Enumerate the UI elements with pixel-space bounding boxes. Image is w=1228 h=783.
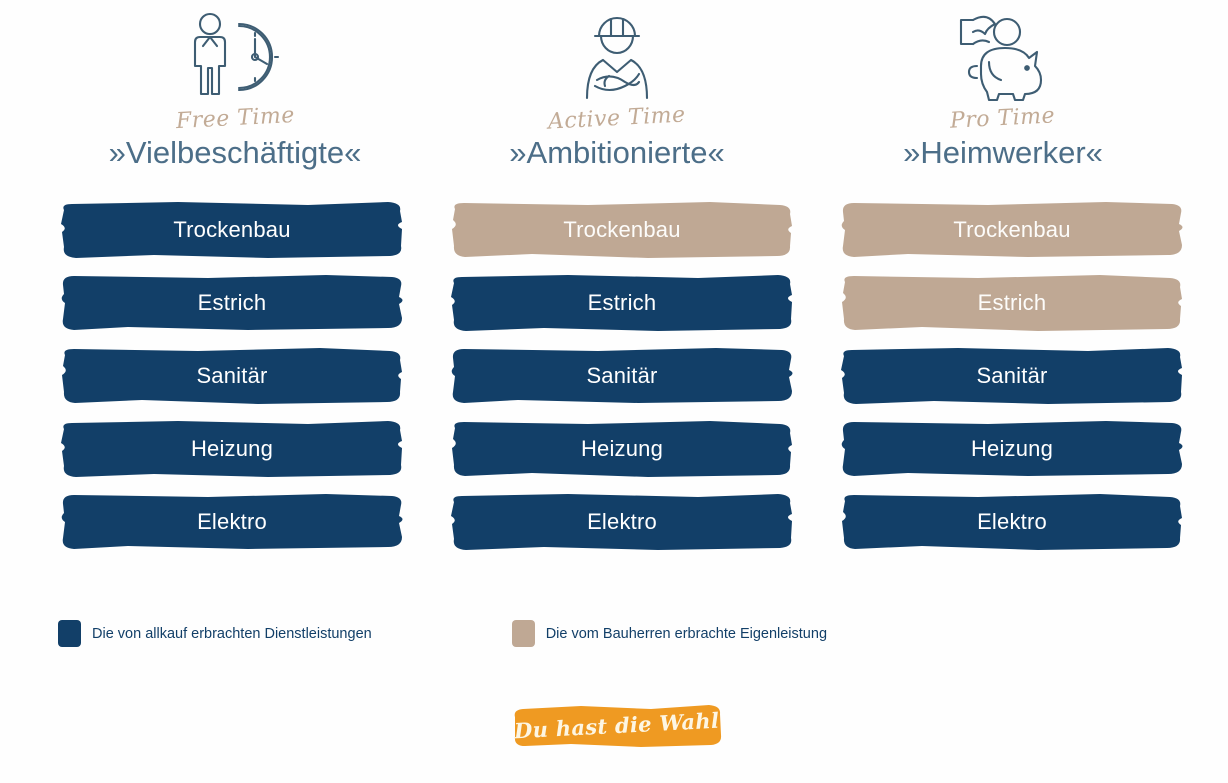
bar-column-heimwerker: Trockenbau Estrich Sanitär Heizung Elekt… (838, 200, 1216, 565)
bar-column-vielbeschaeftigte: Trockenbau Estrich Sanitär Heizung Elekt… (58, 200, 436, 565)
legend: Die von allkauf erbrachten Dienstleistun… (0, 620, 1228, 647)
service-bar[interactable]: Estrich (58, 273, 406, 333)
column-script-label: Free Time (175, 105, 295, 133)
piggy-bank-icon (951, 6, 1055, 106)
brush-stroke-shape (58, 346, 406, 406)
column-title: »Vielbeschäftigte« (109, 136, 362, 170)
brush-stroke-shape (58, 419, 406, 479)
brush-stroke-shape (838, 273, 1186, 333)
legend-label: Die von allkauf erbrachten Dienstleistun… (92, 626, 372, 642)
legend-swatch-navy (58, 620, 81, 647)
legend-item-eigenleistung: Die vom Bauherren erbrachte Eigenleistun… (512, 620, 827, 647)
service-bar[interactable]: Heizung (58, 419, 406, 479)
service-bar[interactable]: Heizung (838, 419, 1186, 479)
service-bar[interactable]: Elektro (448, 492, 796, 552)
brush-stroke-shape (838, 419, 1186, 479)
service-bar[interactable]: Heizung (448, 419, 796, 479)
brush-stroke-shape (838, 346, 1186, 406)
service-bar[interactable]: Sanitär (58, 346, 406, 406)
service-bar[interactable]: Trockenbau (58, 200, 406, 260)
brush-stroke-shape (448, 346, 796, 406)
service-bar[interactable]: Elektro (838, 492, 1186, 552)
column-title: »Heimwerker« (903, 136, 1103, 170)
person-clock-icon (183, 6, 287, 106)
service-comparison-board: Free Time »Vielbeschäftigte« Active Time… (0, 0, 1228, 783)
brush-stroke-shape (448, 273, 796, 333)
service-bar[interactable]: Elektro (58, 492, 406, 552)
construction-worker-icon (569, 6, 665, 106)
service-bar[interactable]: Sanitär (838, 346, 1186, 406)
service-bar[interactable]: Estrich (838, 273, 1186, 333)
service-bars-grid: Trockenbau Estrich Sanitär Heizung Elekt… (0, 200, 1228, 565)
service-bar[interactable]: Sanitär (448, 346, 796, 406)
du-hast-die-wahl-badge[interactable]: Du hast die Wahl (511, 703, 723, 748)
bar-column-ambitionierte: Trockenbau Estrich Sanitär Heizung Elekt… (448, 200, 826, 565)
brush-stroke-shape (58, 492, 406, 552)
legend-item-dienstleistungen: Die von allkauf erbrachten Dienstleistun… (58, 620, 372, 647)
brush-stroke-shape (58, 273, 406, 333)
legend-swatch-tan (512, 620, 535, 647)
column-header-vielbeschaeftigte: Free Time »Vielbeschäftigte« (46, 0, 424, 190)
brush-stroke-shape (448, 419, 796, 479)
service-bar[interactable]: Trockenbau (838, 200, 1186, 260)
brush-stroke-shape (838, 492, 1186, 552)
service-bar[interactable]: Estrich (448, 273, 796, 333)
column-script-label: Pro Time (950, 105, 1056, 132)
service-bar[interactable]: Trockenbau (448, 200, 796, 260)
column-headers: Free Time »Vielbeschäftigte« Active Time… (0, 0, 1228, 190)
column-title: »Ambitionierte« (509, 136, 724, 170)
brush-stroke-shape (448, 492, 796, 552)
brush-stroke-shape (838, 200, 1186, 260)
brush-stroke-shape (58, 200, 406, 260)
column-script-label: Active Time (548, 104, 687, 133)
column-header-ambitionierte: Active Time »Ambitionierte« (428, 0, 806, 190)
column-header-heimwerker: Pro Time »Heimwerker« (814, 0, 1192, 190)
brush-stroke-shape (448, 200, 796, 260)
legend-label: Die vom Bauherren erbrachte Eigenleistun… (546, 626, 827, 642)
